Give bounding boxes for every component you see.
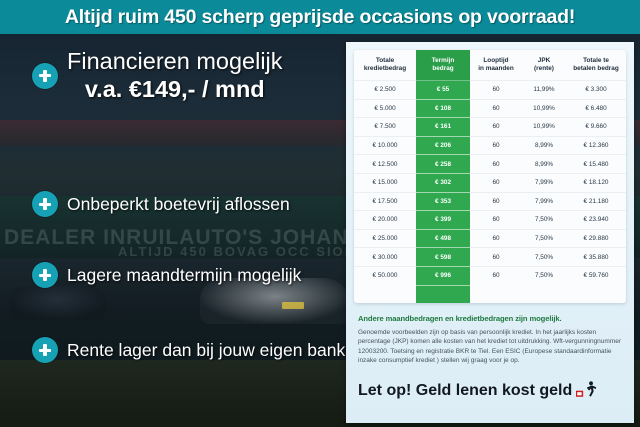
table-cell-r6-c2: 60 bbox=[470, 192, 522, 211]
table-row: € 5.000€ 1086010,99%€ 6.480 bbox=[354, 99, 626, 118]
table-header-cell-0: Totalekredietbedrag bbox=[354, 50, 416, 81]
table-cell-r5-c1: € 302 bbox=[416, 173, 470, 192]
table-cell-r7-c0: € 20.000 bbox=[354, 211, 416, 230]
rates-table-body: € 2.500€ 556011,99%€ 3.300€ 5.000€ 10860… bbox=[354, 81, 626, 304]
table-row: € 12.500€ 258608,99%€ 15.480 bbox=[354, 155, 626, 174]
table-cell-r8-c1: € 498 bbox=[416, 229, 470, 248]
rates-table: TotalekredietbedragTermijnbedragLooptijd… bbox=[354, 50, 626, 303]
table-cell-r10-c3: 7,50% bbox=[522, 266, 566, 285]
disclaimer-block: Andere maandbedragen en kredietbedragen … bbox=[358, 314, 622, 366]
table-cell-r5-c0: € 15.000 bbox=[354, 173, 416, 192]
table-cell-r4-c2: 60 bbox=[470, 155, 522, 174]
table-cell-r6-c0: € 17.500 bbox=[354, 192, 416, 211]
table-cell-r9-c2: 60 bbox=[470, 248, 522, 267]
header-line1: Termijn bbox=[432, 57, 455, 64]
table-cell-r9-c1: € 598 bbox=[416, 248, 470, 267]
table-cell-r6-c4: € 21.180 bbox=[566, 192, 626, 211]
feature-repayment-label: Onbeperkt boetevrij aflossen bbox=[67, 194, 290, 215]
feature-financing-line2: v.a. €149,- / mnd bbox=[67, 76, 283, 103]
table-cell-r0-c4: € 3.300 bbox=[566, 81, 626, 100]
table-header-row: TotalekredietbedragTermijnbedragLooptijd… bbox=[354, 50, 626, 81]
table-cell-r5-c3: 7,99% bbox=[522, 173, 566, 192]
table-cell-r8-c4: € 29.880 bbox=[566, 229, 626, 248]
table-cell-r8-c3: 7,50% bbox=[522, 229, 566, 248]
feature-item-lower-monthly: Lagere maandtermijn mogelijk bbox=[32, 262, 301, 288]
table-row: € 30.000€ 598607,50%€ 35.880 bbox=[354, 248, 626, 267]
table-header-cell-2: Looptijdin maanden bbox=[470, 50, 522, 81]
plus-icon bbox=[32, 262, 58, 288]
feature-item-financing: Financieren mogelijk v.a. €149,- / mnd bbox=[32, 48, 283, 103]
table-header-cell-3: JPK(rente) bbox=[522, 50, 566, 81]
table-cell-r9-c0: € 30.000 bbox=[354, 248, 416, 267]
table-cell-r8-c2: 60 bbox=[470, 229, 522, 248]
header-line1: Looptijd bbox=[483, 57, 508, 64]
table-cell-r0-c1: € 55 bbox=[416, 81, 470, 100]
feature-item-lower-interest: Rente lager dan bij jouw eigen bank bbox=[32, 337, 345, 363]
table-cell-r2-c4: € 9.660 bbox=[566, 118, 626, 137]
table-cell-r10-c2: 60 bbox=[470, 266, 522, 285]
plus-icon bbox=[32, 191, 58, 217]
table-cell-r4-c3: 8,99% bbox=[522, 155, 566, 174]
table-cell-r7-c3: 7,50% bbox=[522, 211, 566, 230]
table-row: € 15.000€ 302607,99%€ 18.120 bbox=[354, 173, 626, 192]
header-line2: betalen bedrag bbox=[573, 65, 618, 72]
table-cell-r1-c4: € 6.480 bbox=[566, 99, 626, 118]
table-cell-r1-c3: 10,99% bbox=[522, 99, 566, 118]
table-cell-r0-c0: € 2.500 bbox=[354, 81, 416, 100]
spacer-cell bbox=[522, 285, 566, 303]
table-cell-r4-c1: € 258 bbox=[416, 155, 470, 174]
header-line2: (rente) bbox=[534, 65, 554, 72]
table-cell-r8-c0: € 25.000 bbox=[354, 229, 416, 248]
table-row: € 20.000€ 399607,50%€ 23.940 bbox=[354, 211, 626, 230]
header-line2: kredietbedrag bbox=[364, 65, 406, 72]
table-row: € 50.000€ 996607,50%€ 59.760 bbox=[354, 266, 626, 285]
table-cell-r2-c1: € 161 bbox=[416, 118, 470, 137]
table-cell-r2-c3: 10,99% bbox=[522, 118, 566, 137]
disclaimer-title: Andere maandbedragen en kredietbedragen … bbox=[358, 314, 622, 323]
feature-financing-line1: Financieren mogelijk bbox=[67, 48, 283, 75]
plus-icon bbox=[32, 63, 58, 89]
promo-banner-screen: DEALER INRUILAUTO'S JOHAN MEURE ALTIJD 4… bbox=[0, 0, 640, 427]
spacer-cell bbox=[416, 285, 470, 303]
table-cell-r5-c4: € 18.120 bbox=[566, 173, 626, 192]
table-row: € 17.500€ 353607,99%€ 21.180 bbox=[354, 192, 626, 211]
table-footer-spacer bbox=[354, 285, 626, 303]
table-cell-r2-c0: € 7.500 bbox=[354, 118, 416, 137]
table-cell-r7-c1: € 399 bbox=[416, 211, 470, 230]
table-row: € 2.500€ 556011,99%€ 3.300 bbox=[354, 81, 626, 100]
header-line1: Totale te bbox=[583, 57, 609, 64]
header-line2: bedrag bbox=[432, 65, 453, 72]
table-cell-r6-c3: 7,99% bbox=[522, 192, 566, 211]
table-row: € 10.000€ 206608,99%€ 12.360 bbox=[354, 136, 626, 155]
feature-list: Financieren mogelijk v.a. €149,- / mnd O… bbox=[0, 34, 340, 427]
rates-table-card: TotalekredietbedragTermijnbedragLooptijd… bbox=[354, 50, 626, 303]
table-cell-r5-c2: 60 bbox=[470, 173, 522, 192]
table-row: € 7.500€ 1616010,99%€ 9.660 bbox=[354, 118, 626, 137]
spacer-cell bbox=[470, 285, 522, 303]
table-cell-r9-c4: € 35.880 bbox=[566, 248, 626, 267]
banner-headline: Altijd ruim 450 scherp geprijsde occasio… bbox=[65, 6, 575, 29]
table-cell-r3-c2: 60 bbox=[470, 136, 522, 155]
table-cell-r4-c0: € 12.500 bbox=[354, 155, 416, 174]
table-cell-r3-c3: 8,99% bbox=[522, 136, 566, 155]
header-line1: JPK bbox=[538, 57, 550, 64]
table-cell-r3-c0: € 10.000 bbox=[354, 136, 416, 155]
table-header-cell-1: Termijnbedrag bbox=[416, 50, 470, 81]
table-cell-r1-c0: € 5.000 bbox=[354, 99, 416, 118]
plus-icon bbox=[32, 337, 58, 363]
table-cell-r10-c0: € 50.000 bbox=[354, 266, 416, 285]
table-cell-r1-c1: € 108 bbox=[416, 99, 470, 118]
table-cell-r10-c4: € 59.760 bbox=[566, 266, 626, 285]
table-cell-r1-c2: 60 bbox=[470, 99, 522, 118]
header-line2: in maanden bbox=[478, 65, 514, 72]
feature-item-repayment: Onbeperkt boetevrij aflossen bbox=[32, 191, 290, 217]
spacer-cell bbox=[566, 285, 626, 303]
table-row: € 25.000€ 498607,50%€ 29.880 bbox=[354, 229, 626, 248]
table-header-cell-4: Totale tebetalen bedrag bbox=[566, 50, 626, 81]
top-banner: Altijd ruim 450 scherp geprijsde occasio… bbox=[0, 0, 640, 34]
credit-warning-text: Let op! Geld lenen kost geld bbox=[358, 382, 572, 400]
rates-panel: TotalekredietbedragTermijnbedragLooptijd… bbox=[346, 42, 634, 423]
disclaimer-body: Genoemde voorbeelden zijn op basis van p… bbox=[358, 328, 622, 366]
table-cell-r7-c2: 60 bbox=[470, 211, 522, 230]
feature-lower-interest-label: Rente lager dan bij jouw eigen bank bbox=[67, 340, 345, 361]
header-line1: Totale bbox=[376, 57, 394, 64]
table-cell-r10-c1: € 996 bbox=[416, 266, 470, 285]
rates-table-head: TotalekredietbedragTermijnbedragLooptijd… bbox=[354, 50, 626, 81]
running-person-warning-icon bbox=[576, 380, 598, 402]
credit-warning: Let op! Geld lenen kost geld bbox=[358, 380, 598, 402]
table-cell-r3-c4: € 12.360 bbox=[566, 136, 626, 155]
table-cell-r0-c2: 60 bbox=[470, 81, 522, 100]
table-cell-r7-c4: € 23.940 bbox=[566, 211, 626, 230]
table-cell-r3-c1: € 206 bbox=[416, 136, 470, 155]
table-cell-r9-c3: 7,50% bbox=[522, 248, 566, 267]
table-cell-r4-c4: € 15.480 bbox=[566, 155, 626, 174]
table-cell-r0-c3: 11,99% bbox=[522, 81, 566, 100]
table-cell-r2-c2: 60 bbox=[470, 118, 522, 137]
spacer-cell bbox=[354, 285, 416, 303]
feature-lower-monthly-label: Lagere maandtermijn mogelijk bbox=[67, 265, 301, 286]
table-cell-r6-c1: € 353 bbox=[416, 192, 470, 211]
